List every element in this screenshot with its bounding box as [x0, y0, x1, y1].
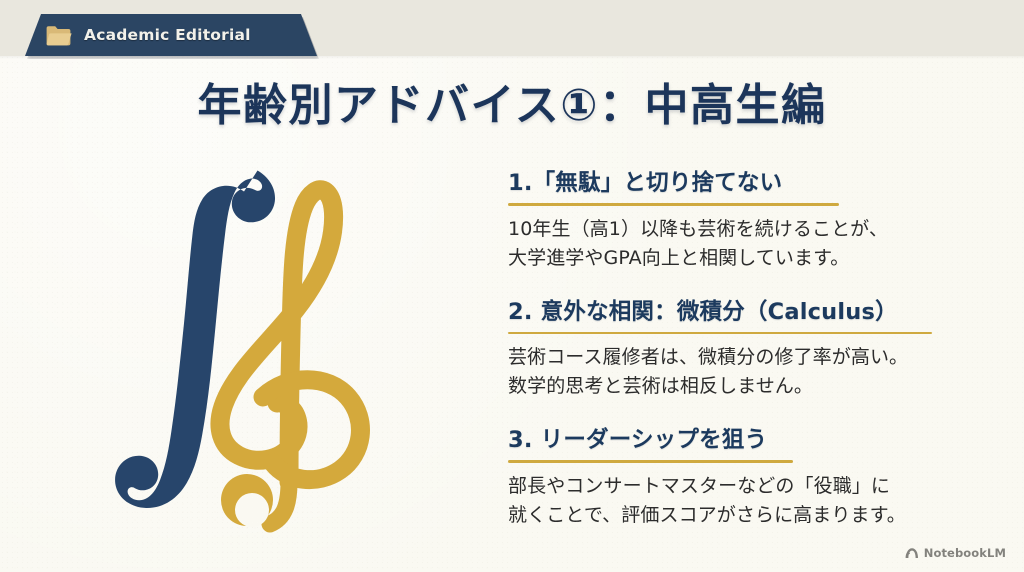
notebooklm-watermark-label: NotebookLM — [924, 546, 1006, 560]
integral-and-treble-clef-illustration — [92, 158, 402, 540]
key-point-3-underline — [508, 460, 793, 463]
key-point-3-body-line-1: 部長やコンサートマスターなどの「役職」に — [508, 472, 978, 501]
key-point-3: 3. リーダーシップを狙う 部長やコンサートマスターなどの「役職」に 就くことで… — [508, 425, 978, 530]
key-point-1-body: 10年生（高1）以降も芸術を続けることが、 大学進学やGPA向上と相関しています… — [508, 215, 978, 273]
key-point-1-underline — [508, 203, 839, 206]
key-point-1-body-line-1: 10年生（高1）以降も芸術を続けることが、 — [508, 215, 978, 244]
key-point-2: 2. 意外な相関：微積分（Calculus） 芸術コース履修者は、微積分の修了率… — [508, 297, 978, 402]
tab-label: Academic Editorial — [84, 25, 251, 46]
key-point-3-body: 部長やコンサートマスターなどの「役職」に 就くことで、評価スコアがさらに高まりま… — [508, 472, 978, 530]
key-point-2-underline — [508, 332, 932, 335]
notebooklm-watermark: NotebookLM — [905, 546, 1006, 560]
key-point-1: 1.「無駄」と切り捨てない 10年生（高1）以降も芸術を続けることが、 大学進学… — [508, 168, 978, 273]
slide-canvas: Academic Editorial 年齢別アドバイス①：中高生編 1.「無駄」… — [0, 0, 1024, 572]
key-point-2-heading: 2. 意外な相関：微積分（Calculus） — [508, 297, 978, 327]
notebooklm-logo-icon — [905, 547, 919, 559]
key-point-1-body-line-2: 大学進学やGPA向上と相関しています。 — [508, 244, 978, 273]
key-point-2-body-line-1: 芸術コース履修者は、微積分の修了率が高い。 — [508, 343, 978, 372]
folder-icon — [46, 25, 72, 46]
page-title: 年齢別アドバイス①：中高生編 — [0, 78, 1024, 134]
key-point-3-heading: 3. リーダーシップを狙う — [508, 425, 978, 455]
clef-ball-notch — [235, 493, 269, 527]
key-point-1-heading: 1.「無駄」と切り捨てない — [508, 168, 978, 198]
key-point-2-body: 芸術コース履修者は、微積分の修了率が高い。 数学的思考と芸術は相反しません。 — [508, 343, 978, 401]
key-point-3-body-line-2: 就くことで、評価スコアがさらに高まります。 — [508, 501, 978, 530]
treble-clef-icon — [220, 190, 361, 524]
key-point-2-body-line-2: 数学的思考と芸術は相反しません。 — [508, 372, 978, 401]
key-points-list: 1.「無駄」と切り捨てない 10年生（高1）以降も芸術を続けることが、 大学進学… — [508, 168, 978, 530]
